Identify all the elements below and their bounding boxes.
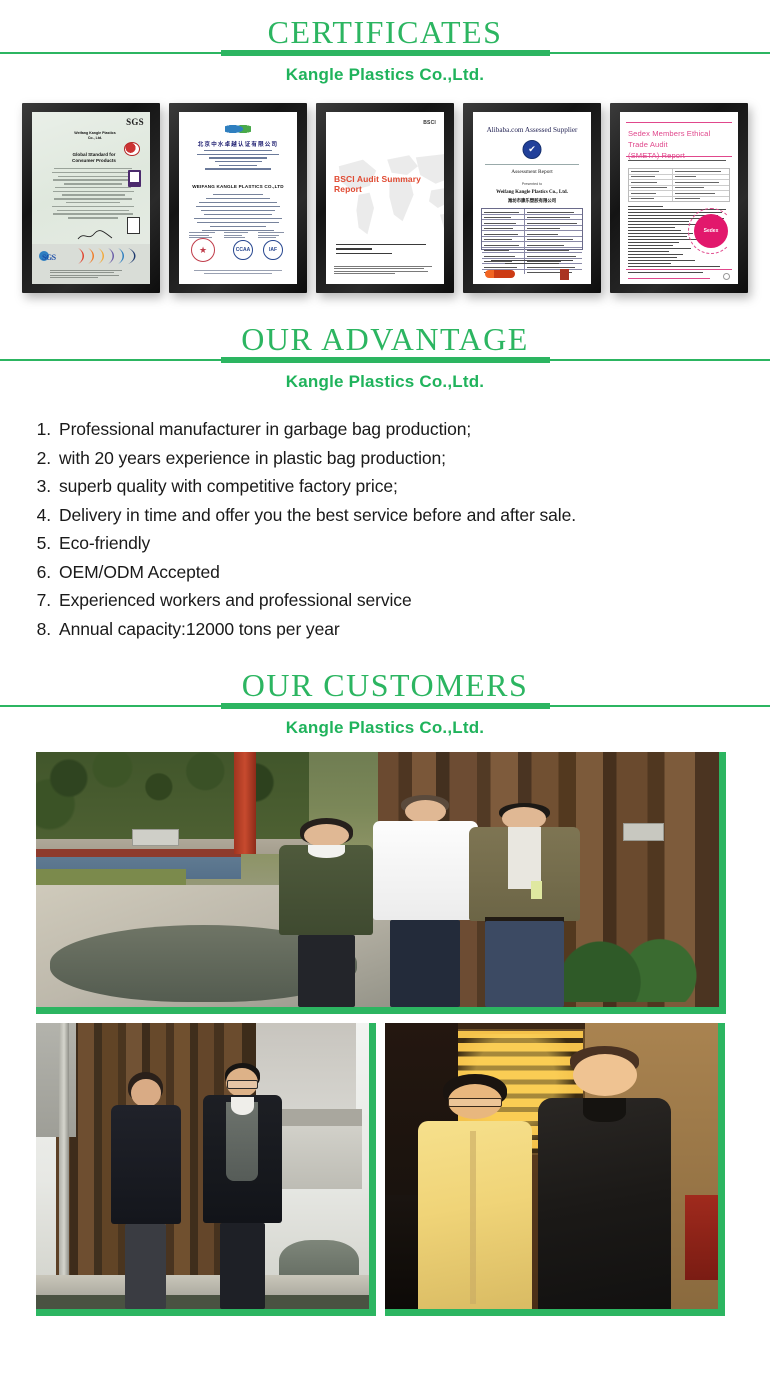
sgs-logo-text: SGS xyxy=(126,117,144,127)
report-version-line xyxy=(628,160,730,161)
list-item-number: 4. xyxy=(34,501,59,530)
sgs-footer-logos: SGS xyxy=(42,253,56,262)
page-title-customers: OUR CUSTOMERS xyxy=(0,667,770,703)
list-item-number: 2. xyxy=(34,444,59,473)
person-figure xyxy=(466,803,582,1007)
purple-badge-icon xyxy=(128,170,141,187)
page-title-advantage: OUR ADVANTAGE xyxy=(0,321,770,357)
divider-line xyxy=(626,122,732,123)
page-number-circle-icon xyxy=(723,273,730,280)
world-map-graphic xyxy=(330,142,444,252)
audit-details-table xyxy=(628,168,730,202)
certificate-fineprint xyxy=(50,270,130,280)
list-item-text: Delivery in time and offer you the best … xyxy=(59,501,740,530)
certifier-subtext xyxy=(191,150,285,172)
certificate-page: Sedex Members Ethical Trade Audit (SMETA… xyxy=(620,112,738,284)
list-item: 8. Annual capacity:12000 tons per year xyxy=(34,615,740,644)
list-item-number: 6. xyxy=(34,558,59,587)
assessment-table xyxy=(481,208,583,250)
accreditation-mark-icon xyxy=(127,217,140,234)
list-item: 1. Professional manufacturer in garbage … xyxy=(34,415,740,444)
list-item-text: superb quality with competitive factory … xyxy=(59,472,740,501)
list-item-text: OEM/ODM Accepted xyxy=(59,558,740,587)
partner-logo-icon xyxy=(560,269,569,280)
report-fineprint xyxy=(334,266,436,276)
certificate-body-text xyxy=(189,194,287,234)
person-figure xyxy=(538,1046,671,1309)
customers-photo-gallery xyxy=(0,739,770,1328)
divider-certificates xyxy=(0,49,770,57)
signature-graphic xyxy=(76,230,116,242)
list-item-number: 1. xyxy=(34,415,59,444)
report-title: BSCI Audit Summary Report xyxy=(334,174,436,194)
certificate-page: BSCI BSCI Audit Summary Report xyxy=(326,112,444,284)
list-item: 7. Experienced workers and professional … xyxy=(34,586,740,615)
list-item: 6. OEM/ODM Accepted xyxy=(34,558,740,587)
customer-photo-pair-indoor[interactable] xyxy=(385,1023,725,1316)
certificate-page: 北京中水卓越认证有限公司 WEIFANG KANGLE PLASTICS CO.… xyxy=(179,112,297,284)
report-metadata xyxy=(336,244,426,257)
person-figure xyxy=(275,818,377,1007)
divider-advantage xyxy=(0,356,770,364)
certificate-company-name: Weifang Kangle Plastics Co., Ltd. xyxy=(479,190,585,195)
certificate-company-name: WEIFANG KANGLE PLASTICS CO.,LTD xyxy=(187,184,289,189)
divider-line xyxy=(485,164,579,165)
list-item-number: 3. xyxy=(34,472,59,501)
person-figure xyxy=(371,795,480,1007)
list-item-text: Professional manufacturer in garbage bag… xyxy=(59,415,740,444)
divider-line xyxy=(626,156,732,157)
certificate-company-name: Weifang Kangle Plastics Co., Ltd. xyxy=(58,131,132,141)
list-item-text: Experienced workers and professional ser… xyxy=(59,586,740,615)
divider-thick-bar xyxy=(221,50,550,56)
certificate-sgs-global-standard[interactable]: SGS Weifang Kangle Plastics Co., Ltd. Gl… xyxy=(22,103,160,293)
certificate-page: Alibaba.com Assessed Supplier Assessment… xyxy=(473,112,591,284)
list-item: 4. Delivery in time and offer you the be… xyxy=(34,501,740,530)
list-item-text: Eco-friendly xyxy=(59,529,740,558)
certifier-name-cn: 北京中水卓越认证有限公司 xyxy=(191,140,285,148)
person-figure xyxy=(418,1074,531,1309)
sgs-seal-icon xyxy=(124,142,140,156)
divider-thick-bar xyxy=(221,703,550,709)
subtitle-certificates: Kangle Plastics Co.,Ltd. xyxy=(0,64,770,86)
list-item-number: 8. xyxy=(34,615,59,644)
divider-customers xyxy=(0,702,770,710)
certificate-page: SGS Weifang Kangle Plastics Co., Ltd. Gl… xyxy=(32,112,150,284)
person-figure xyxy=(109,1072,182,1309)
customers-section-header: OUR CUSTOMERS Kangle Plastics Co.,Ltd. xyxy=(0,643,770,739)
advantage-section-header: OUR ADVANTAGE Kangle Plastics Co.,Ltd. xyxy=(0,293,770,393)
certificate-iso-9001[interactable]: 北京中水卓越认证有限公司 WEIFANG KANGLE PLASTICS CO.… xyxy=(169,103,307,293)
divider-line xyxy=(626,269,732,270)
photo-content xyxy=(385,1023,718,1309)
list-item-text: Annual capacity:12000 tons per year xyxy=(59,615,740,644)
report-fineprint xyxy=(628,278,730,279)
table-row xyxy=(629,197,729,202)
certificate-fineprint xyxy=(189,270,287,276)
customer-photo-group-outdoor[interactable] xyxy=(36,752,726,1014)
customer-photo-row xyxy=(36,1023,748,1316)
list-item-number: 5. xyxy=(34,529,59,558)
divider-thick-bar xyxy=(221,357,550,363)
certificate-company-name-cn: 潍坊市康乐塑胶有限公司 xyxy=(479,198,585,204)
certificate-bsci-audit-report[interactable]: BSCI BSCI Audit Summary Report xyxy=(316,103,454,293)
iso-certifier-logo-icon xyxy=(225,122,251,136)
ccaa-badge-icon: CCAA xyxy=(233,240,253,260)
list-item: 5. Eco-friendly xyxy=(34,529,740,558)
list-item-text: with 20 years experience in plastic bag … xyxy=(59,444,740,473)
customer-photo-pair-outdoor[interactable] xyxy=(36,1023,376,1316)
iaf-badge-icon: IAF xyxy=(263,240,283,260)
verified-seal-icon xyxy=(523,140,542,159)
certificate-standard-title: Global Standard for Consumer Products xyxy=(54,152,134,164)
alibaba-logo-icon xyxy=(485,270,515,278)
list-item-number: 7. xyxy=(34,586,59,615)
page-title-certificates: CERTIFICATES xyxy=(0,14,770,50)
report-title: Alibaba.com Assessed Supplier xyxy=(479,126,585,134)
list-item: 2. with 20 years experience in plastic b… xyxy=(34,444,740,473)
certificate-alibaba-assessed-supplier[interactable]: Alibaba.com Assessed Supplier Assessment… xyxy=(463,103,601,293)
certificate-sedex-smeta-report[interactable]: Sedex Members Ethical Trade Audit (SMETA… xyxy=(610,103,748,293)
photo-content xyxy=(36,1023,369,1309)
red-official-seal-icon xyxy=(191,238,215,262)
list-item: 3. superb quality with competitive facto… xyxy=(34,472,740,501)
certificates-section-header: CERTIFICATES Kangle Plastics Co.,Ltd. xyxy=(0,0,770,86)
certificate-body-text xyxy=(48,168,138,221)
presented-label: Presented to xyxy=(479,182,585,186)
subtitle-customers: Kangle Plastics Co.,Ltd. xyxy=(0,717,770,739)
sedex-logo-icon: Sedex xyxy=(694,214,728,248)
report-fineprint xyxy=(481,260,583,264)
bottom-spacer xyxy=(0,1328,770,1338)
certificates-gallery: SGS Weifang Kangle Plastics Co., Ltd. Gl… xyxy=(0,86,770,293)
photo-content xyxy=(36,752,719,1007)
report-subtitle: Assessment Report xyxy=(479,169,585,175)
person-figure xyxy=(203,1063,283,1309)
bsci-logo-text: BSCI xyxy=(423,120,436,126)
advantage-list: 1. Professional manufacturer in garbage … xyxy=(0,393,770,643)
subtitle-advantage: Kangle Plastics Co.,Ltd. xyxy=(0,371,770,393)
